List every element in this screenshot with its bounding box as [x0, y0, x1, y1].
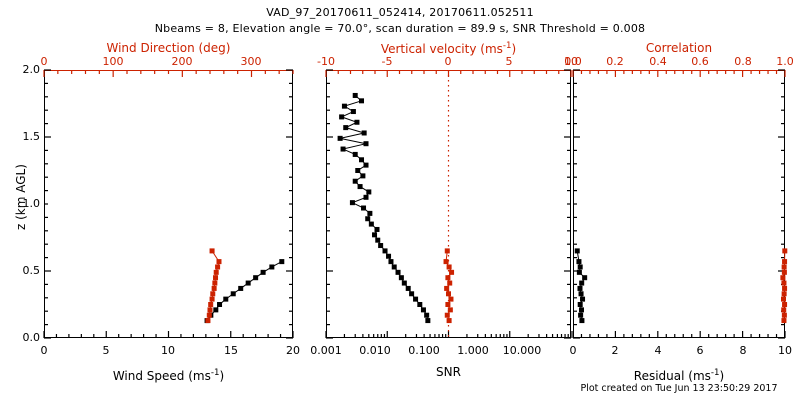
y-axis-tick-label: 0.5	[6, 264, 40, 277]
panel-residual-top-tick-label: 0.8	[723, 55, 763, 68]
wind-speed-label-main: Wind Speed (ms	[113, 369, 211, 383]
panel-residual-top-tick-label: 1.0	[765, 55, 800, 68]
panel-snr-bottom-tick-label: 0.001	[300, 344, 352, 357]
wind-speed-label-tail: )	[219, 369, 224, 383]
panel-snr-top-tick-label: 0	[428, 55, 468, 68]
y-axis-tick-label: 1.5	[6, 130, 40, 143]
panel-snr-top-tick-label: 5	[489, 55, 529, 68]
y-axis-tick-label: 1.0	[6, 197, 40, 210]
panel-residual-top-tick-label: 0.4	[638, 55, 678, 68]
residual-label-tail: )	[720, 369, 725, 383]
residual-label-exponent: -1	[711, 368, 720, 378]
panel-wind-top-tick-label: 200	[162, 55, 202, 68]
panel-wind-top-tick-label: 100	[93, 55, 133, 68]
panel-wind-bottom-tick-label: 10	[148, 344, 188, 357]
panel-residual-top-tick-label: 0.6	[680, 55, 720, 68]
panel-wind-bottom-axis-title: Wind Speed (ms-1)	[44, 368, 293, 383]
panel-wind-bottom-tick-label: 5	[86, 344, 126, 357]
plot-created-footer: Plot created on Tue Jun 13 23:50:29 2017	[573, 383, 785, 394]
residual-label-main: Residual (ms	[634, 369, 711, 383]
vertical-velocity-label-exponent: -1	[503, 41, 512, 51]
panel-snr-bottom-tick-label: 0.010	[349, 344, 401, 357]
panel-snr[interactable]	[326, 70, 571, 338]
panel-snr-top-axis-title: Vertical velocity (ms-1)	[326, 41, 571, 56]
panel-snr-plot-area	[326, 70, 571, 338]
panel-snr-bottom-tick-label: 10.000	[492, 344, 552, 357]
y-axis-tick-label: 0.0	[6, 331, 40, 344]
panel-residual-bottom-axis-title: Residual (ms-1)	[573, 368, 785, 383]
panel-snr-top-tick-label: -10	[306, 55, 346, 68]
panel-wind-top-tick-label: 0	[24, 55, 64, 68]
panel-wind[interactable]	[44, 70, 293, 338]
panel-residual-plot-area	[573, 70, 785, 338]
panel-residual-bottom-tick-label: 4	[638, 344, 678, 357]
panel-snr-bottom-axis-title: SNR	[326, 365, 571, 379]
panel-snr-top-tick-label: -5	[367, 55, 407, 68]
panel-residual-bottom-tick-label: 10	[765, 344, 800, 357]
panel-wind-bottom-tick-label: 15	[211, 344, 251, 357]
panel-snr-bottom-tick-label: 0.100	[398, 344, 450, 357]
panel-wind-bottom-tick-label: 0	[24, 344, 64, 357]
vertical-velocity-label-tail: )	[512, 42, 517, 56]
plot-subtitle: Nbeams = 8, Elevation angle = 70.0°, sca…	[0, 22, 800, 35]
panel-wind-top-axis-title: Wind Direction (deg)	[44, 41, 293, 55]
panel-residual-top-tick-label: 0.2	[595, 55, 635, 68]
panel-residual[interactable]	[573, 70, 785, 338]
vertical-velocity-label-main: Vertical velocity (ms	[381, 42, 503, 56]
plot-title: VAD_97_20170611_052414, 20170611.052511	[0, 6, 800, 19]
panel-wind-plot-area	[44, 70, 293, 338]
panel-residual-bottom-tick-label: 2	[595, 344, 635, 357]
panel-wind-top-tick-label: 300	[231, 55, 271, 68]
panel-residual-bottom-tick-label: 6	[680, 344, 720, 357]
panel-residual-top-tick-label: 0.0	[553, 55, 593, 68]
panel-residual-bottom-tick-label: 0	[553, 344, 593, 357]
panel-residual-top-axis-title: Correlation	[573, 41, 785, 55]
panel-residual-bottom-tick-label: 8	[723, 344, 763, 357]
